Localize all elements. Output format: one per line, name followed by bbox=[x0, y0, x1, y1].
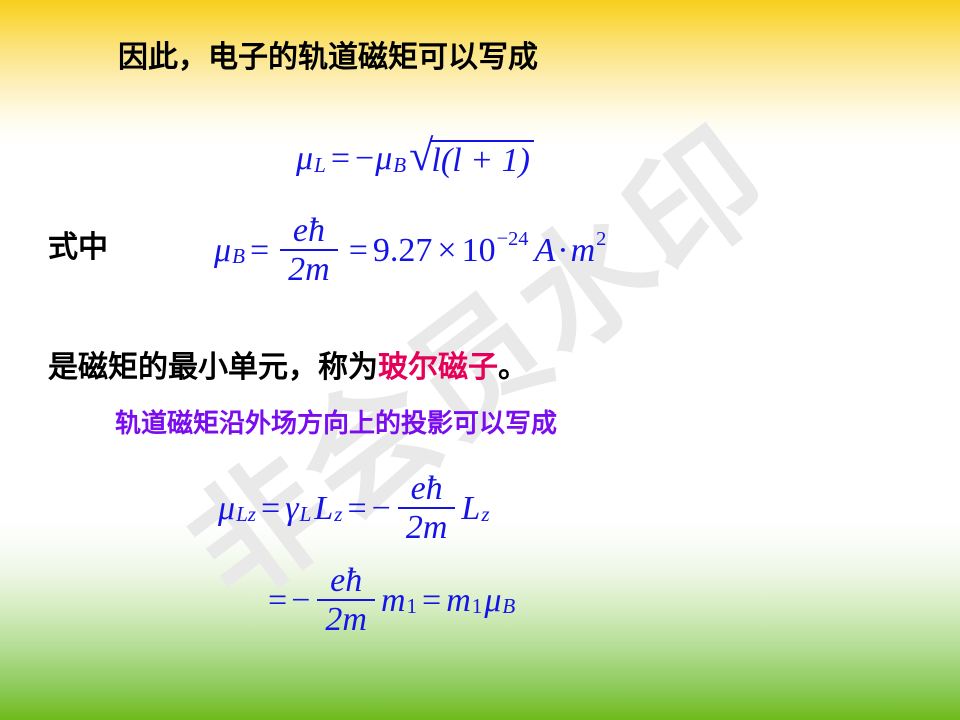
fraction-ehbar-2m: eħ 2m bbox=[398, 472, 456, 545]
fraction-numerator: eħ bbox=[403, 472, 451, 507]
equals-sign: = bbox=[268, 584, 287, 618]
fraction-ehbar-2m: eħ 2m bbox=[280, 214, 338, 287]
lz-symbol-2: L bbox=[461, 492, 480, 526]
mu-symbol: μ bbox=[484, 584, 501, 618]
times-sign: × bbox=[437, 234, 456, 268]
formula-projection: μLz = γL Lz = − eħ 2m Lz bbox=[218, 472, 490, 545]
mu-b-subscript: B bbox=[393, 155, 406, 176]
fraction-denominator: 2m bbox=[280, 249, 338, 287]
minus-sign: − bbox=[372, 492, 391, 526]
fraction-numerator: eħ bbox=[285, 214, 333, 249]
mu-b-symbol: μ bbox=[375, 142, 392, 176]
unit-meter-exponent: 2 bbox=[596, 229, 606, 249]
power-base: 10 bbox=[462, 234, 496, 268]
fraction-ehbar-2m: eħ 2m bbox=[317, 564, 375, 637]
fraction-numerator: eħ bbox=[322, 564, 370, 599]
radical-sign: √ bbox=[409, 138, 433, 176]
projection-heading: 轨道磁矩沿外场方向上的投影可以写成 bbox=[115, 411, 557, 437]
fraction-denominator: 2m bbox=[398, 507, 456, 545]
formula-orbital-moment: μL = − μB √ l(l + 1) bbox=[296, 140, 534, 178]
smallest-unit-prefix: 是磁矩的最小单元，称为 bbox=[48, 351, 378, 384]
m-subscript-2: 1 bbox=[472, 596, 483, 617]
equals-sign: = bbox=[250, 234, 269, 268]
lz-subscript-2: z bbox=[481, 504, 489, 525]
fraction-denominator: 2m bbox=[317, 599, 375, 637]
mu-l-symbol: μ bbox=[296, 142, 313, 176]
equals-sign: = bbox=[331, 142, 350, 176]
m-symbol-2: m bbox=[446, 584, 471, 618]
lz-subscript: z bbox=[334, 504, 342, 525]
mu-l-subscript: L bbox=[314, 155, 326, 176]
equals-sign-2: = bbox=[347, 492, 366, 526]
m-symbol: m bbox=[381, 584, 406, 618]
mu-b-symbol: μ bbox=[214, 234, 231, 268]
formula-bohr-magneton: μB = eħ 2m = 9.27 × 10−24 A · m2 bbox=[214, 214, 606, 287]
formula-projection-continued: = − eħ 2m m1 = m1 μB bbox=[268, 564, 515, 637]
page-title: 因此，电子的轨道磁矩可以写成 bbox=[118, 43, 538, 73]
radicand: l(l + 1) bbox=[430, 140, 533, 178]
minus-sign: − bbox=[291, 584, 310, 618]
mu-subscript: B bbox=[502, 596, 515, 617]
mu-lz-subscript: Lz bbox=[236, 504, 256, 525]
gamma-symbol: γ bbox=[285, 492, 298, 526]
gamma-subscript: L bbox=[300, 504, 312, 525]
equals-sign: = bbox=[261, 492, 280, 526]
unit-dot: · bbox=[557, 234, 568, 268]
unit-ampere: A bbox=[534, 234, 555, 268]
equals-sign-2: = bbox=[422, 584, 441, 618]
bohr-magneton-term: 玻尔磁子 bbox=[378, 351, 498, 384]
equals-sign-2: = bbox=[349, 234, 368, 268]
square-root-group: √ l(l + 1) bbox=[409, 140, 534, 178]
power-exponent: −24 bbox=[497, 229, 529, 249]
unit-meter: m bbox=[571, 234, 596, 268]
m-subscript: 1 bbox=[407, 596, 418, 617]
slide-canvas: 非会员水印 因此，电子的轨道磁矩可以写成 μL = − μB √ l(l + 1… bbox=[0, 0, 960, 720]
lz-symbol: L bbox=[314, 492, 333, 526]
minus-sign: − bbox=[355, 142, 374, 176]
smallest-unit-suffix: 。 bbox=[498, 351, 528, 384]
mantissa-value: 9.27 bbox=[373, 234, 433, 268]
mu-lz-symbol: μ bbox=[218, 492, 235, 526]
shizhong-label: 式中 bbox=[48, 233, 108, 263]
mu-b-subscript: B bbox=[232, 246, 245, 267]
smallest-unit-sentence: 是磁矩的最小单元，称为玻尔磁子。 bbox=[48, 353, 528, 383]
